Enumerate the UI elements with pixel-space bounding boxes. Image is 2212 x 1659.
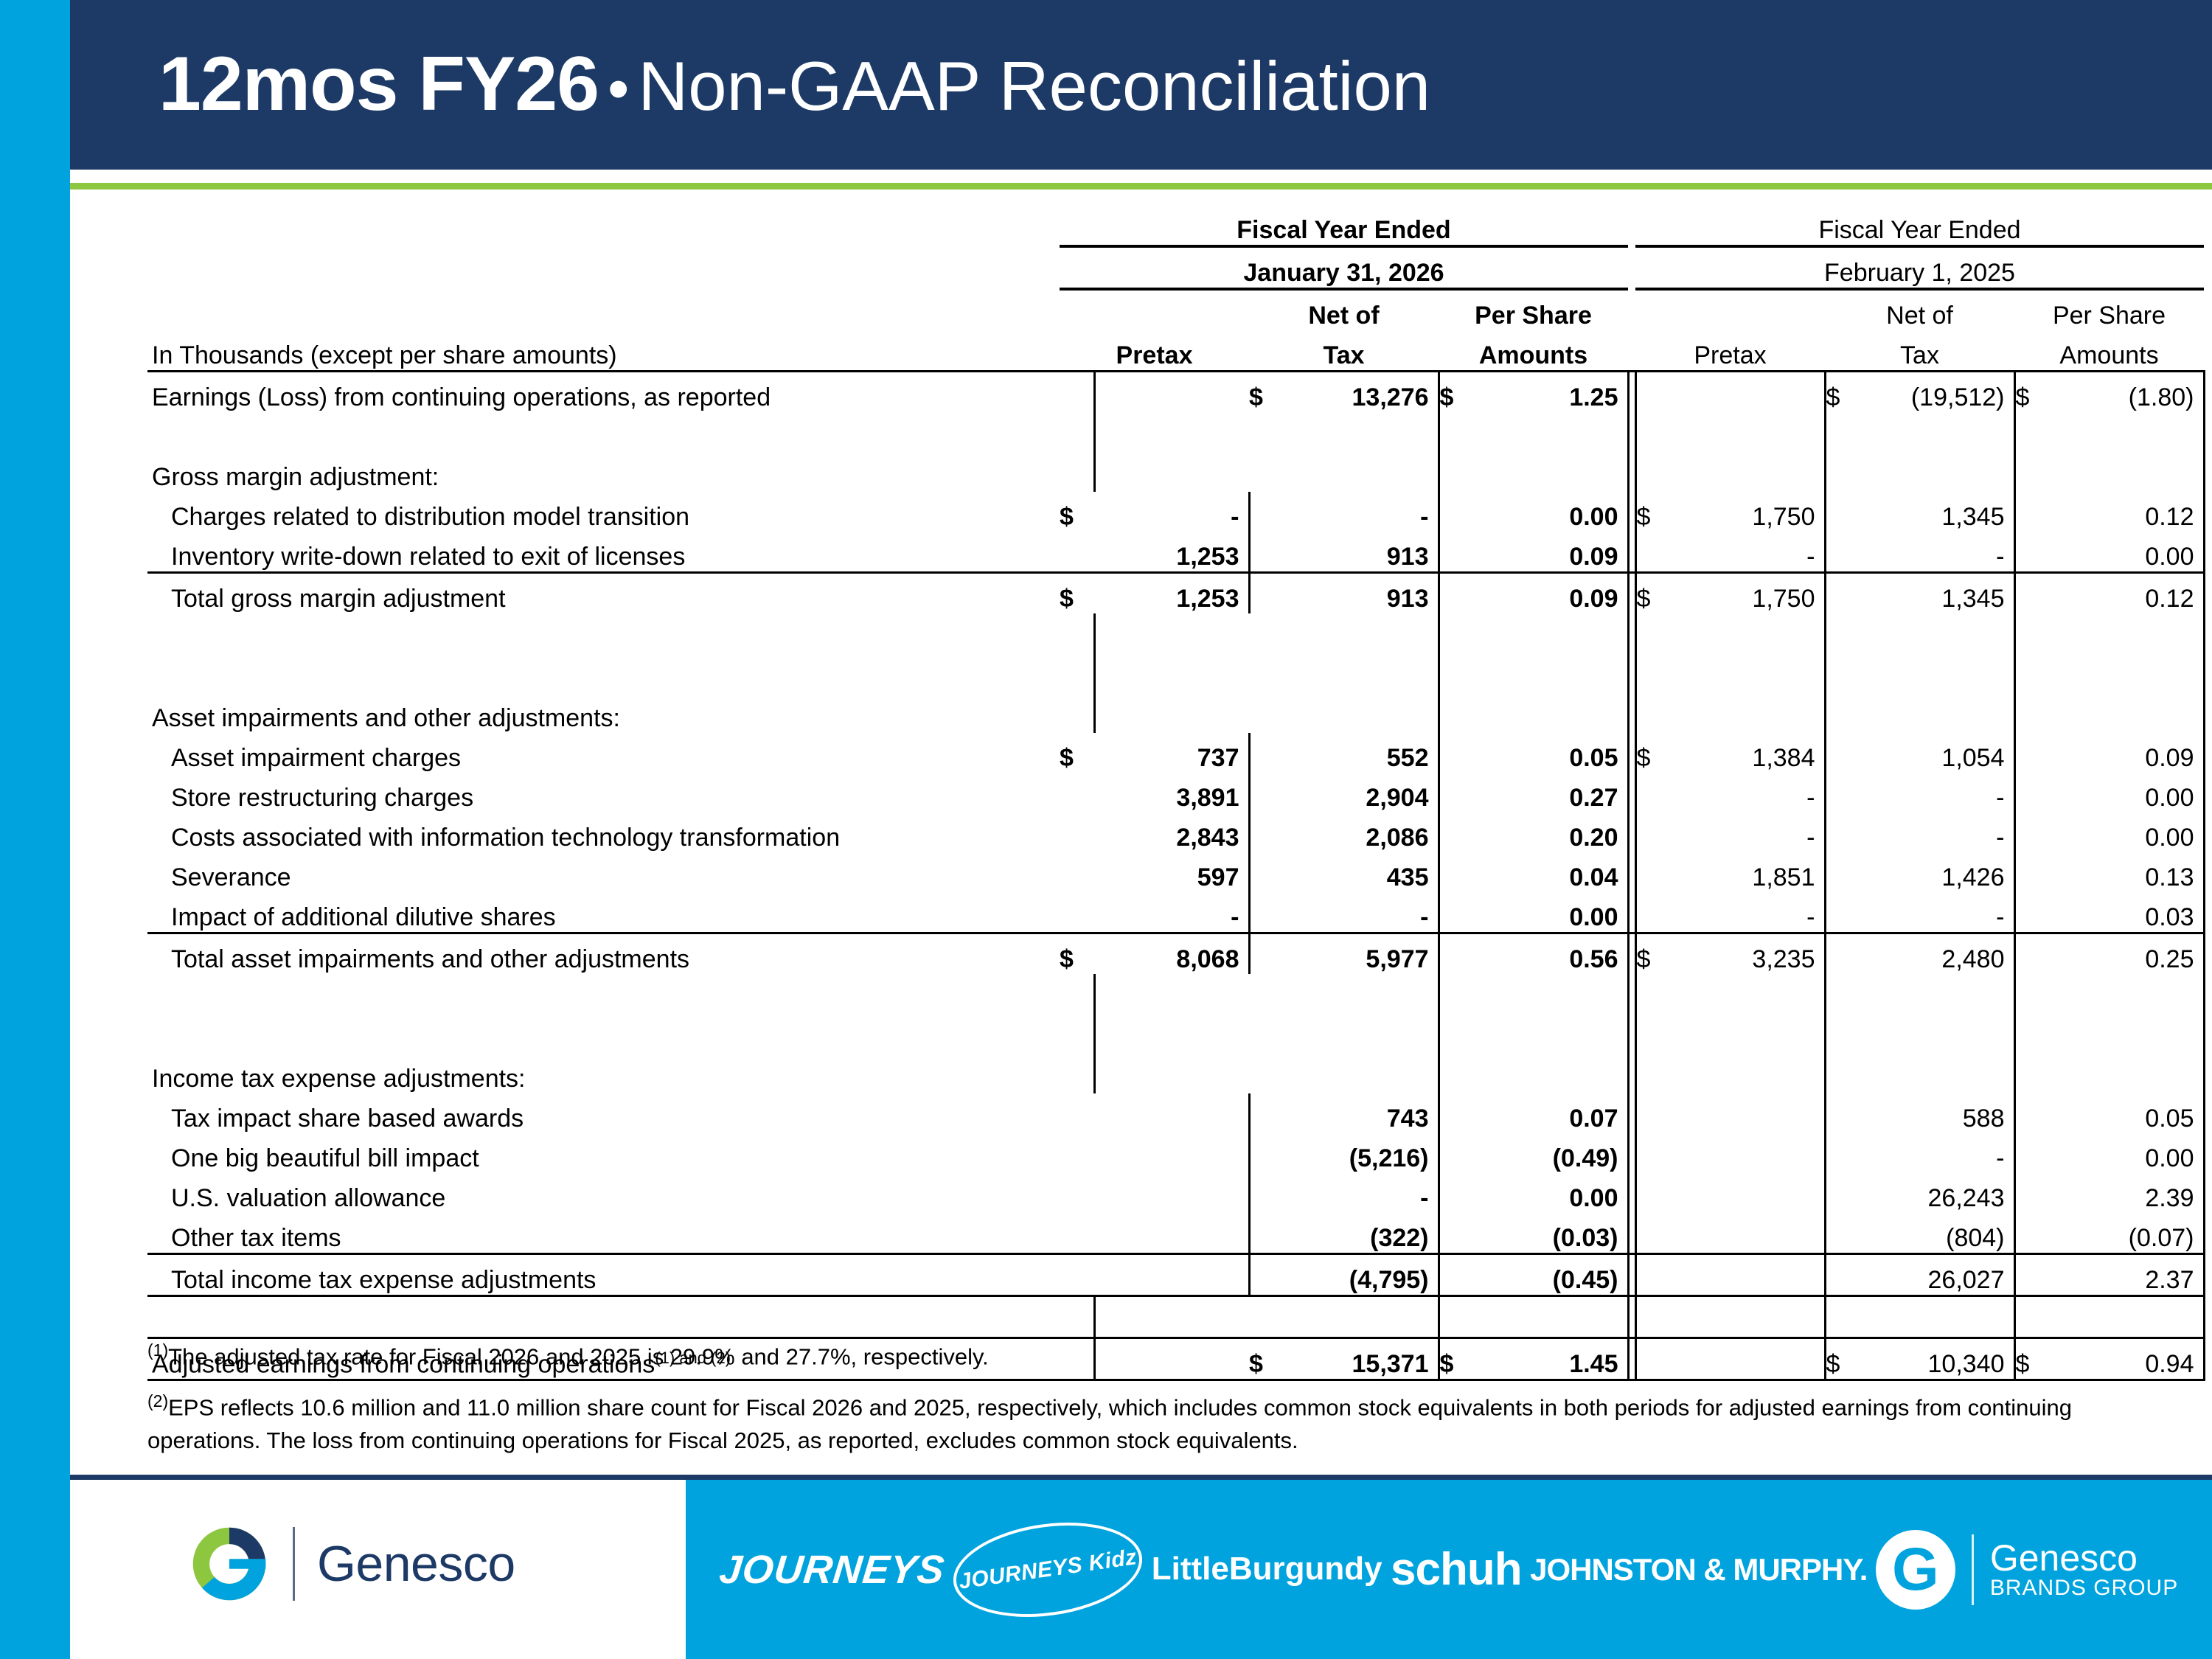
journeys-kidz-label: JOURNEYS Kidz	[957, 1545, 1138, 1595]
table-row-tx-other: Other tax items (322) (0.03) (804) (0.07…	[147, 1213, 2204, 1254]
table-row-reported: Earnings (Loss) from continuing operatio…	[147, 372, 2204, 413]
aiimp-fy25-net: 1,054	[1860, 733, 2015, 773]
gmtot-fy25-net: 1,345	[1860, 573, 2015, 614]
txshare-fy26-pretax	[1095, 1093, 1250, 1133]
footnote-1-marker: (1)	[147, 1340, 168, 1360]
table-row-tx-share: Tax impact share based awards 743 0.07 5…	[147, 1093, 2204, 1133]
txval-fy26-net: -	[1284, 1173, 1439, 1213]
table-row-ai-total: Total asset impairments and other adjust…	[147, 933, 2204, 975]
aiimp-fy26-net: 552	[1284, 733, 1439, 773]
genesco-brands-g-icon: G	[1876, 1530, 1955, 1610]
aidil-fy26-net: -	[1284, 892, 1439, 933]
row-label-ai-severance: Severance	[147, 852, 1060, 892]
row-label-ai-it: Costs associated with information techno…	[147, 813, 1060, 852]
table-row-ai-store: Store restructuring charges 3,891 2,904 …	[147, 773, 2204, 813]
gminv-fy25-pretax: -	[1671, 532, 1826, 573]
table-row-tx-total: Total income tax expense adjustments (4,…	[147, 1254, 2204, 1296]
fy26-header-per-share: Per Share	[1439, 289, 1628, 330]
gmtot-fy26-pretax-cur: $	[1060, 573, 1095, 614]
gmtot-fy26-net: 913	[1284, 573, 1439, 614]
txoth-fy26-net: (322)	[1284, 1213, 1439, 1254]
aidil-fy26-eps: 0.00	[1474, 892, 1629, 933]
table-row-ai-severance: Severance 597 435 0.04 1,851 1,426 0.13	[147, 852, 2204, 892]
txtot-fy26-net: (4,795)	[1284, 1254, 1439, 1296]
aiit-fy26-net: 2,086	[1284, 813, 1439, 852]
aiit-fy26-eps: 0.20	[1474, 813, 1629, 852]
gmtot-fy26-pretax: 1,253	[1095, 573, 1250, 614]
aiimp-fy25-pretax: 1,384	[1671, 733, 1826, 773]
fy26-header-amounts: Amounts	[1439, 330, 1628, 372]
txshare-fy25-pretax	[1671, 1093, 1826, 1133]
little-burgundy-logo: Little Burgundy	[1152, 1552, 1382, 1586]
non-gaap-reconciliation-table: Fiscal Year Ended Fiscal Year Ended Janu…	[147, 205, 2205, 1381]
aiimp-fy26-pretax-cur: $	[1060, 733, 1095, 773]
gminv-fy26-eps: 0.09	[1474, 532, 1629, 573]
table-row-ai-dilutive: Impact of additional dilutive shares - -…	[147, 892, 2204, 933]
txval-fy26-eps: 0.00	[1474, 1173, 1629, 1213]
genesco-brands-line1: Genesco	[1990, 1537, 2138, 1579]
aisev-fy26-eps: 0.04	[1474, 852, 1629, 892]
table-row-gm-header: Gross margin adjustment:	[147, 452, 2204, 492]
txtot-fy25-eps: 2.37	[2050, 1254, 2205, 1296]
gmdist-fy25-eps: 0.12	[2050, 492, 2205, 532]
little-burgundy-line2: Burgundy	[1229, 1552, 1382, 1586]
fy26-period-line1: Fiscal Year Ended	[1060, 205, 1628, 246]
aistore-fy26-eps: 0.27	[1474, 773, 1629, 813]
title-subject: Non-GAAP Reconciliation	[638, 47, 1430, 125]
section-header-income-tax: Income tax expense adjustments:	[147, 1054, 1060, 1093]
page-title: 12mos FY26•Non-GAAP Reconciliation	[159, 24, 2076, 149]
little-burgundy-line1: Little	[1152, 1552, 1229, 1586]
row-label-tx-obbb: One big beautiful bill impact	[147, 1133, 1060, 1173]
aitot-fy25-pretax: 3,235	[1671, 933, 1826, 975]
txtot-fy25-pretax	[1671, 1254, 1826, 1296]
row-label-gm-total: Total gross margin adjustment	[147, 573, 1060, 614]
txoth-fy25-net: (804)	[1860, 1213, 2015, 1254]
gmdist-fy25-pretax: 1,750	[1671, 492, 1826, 532]
fy25-period-line1: Fiscal Year Ended	[1635, 205, 2204, 246]
reported-fy26-pretax-cur	[1060, 372, 1095, 413]
gminv-fy25-eps: 0.00	[2050, 532, 2205, 573]
row-label-gm-distribution: Charges related to distribution model tr…	[147, 492, 1060, 532]
table-row-spacer	[147, 412, 2204, 452]
footnote-1-text: The adjusted tax rate for Fiscal 2026 an…	[168, 1343, 989, 1369]
txobbb-fy26-eps: (0.49)	[1474, 1133, 1629, 1173]
schuh-logo: schuh	[1391, 1543, 1522, 1596]
aidil-fy26-pretax: -	[1095, 892, 1250, 933]
aitot-fy26-eps: 0.56	[1474, 933, 1629, 975]
txval-fy25-pretax	[1671, 1173, 1826, 1213]
table-row-spacer	[147, 653, 2204, 693]
table-row-spacer	[147, 1296, 2204, 1338]
reported-fy26-net-cur: $	[1249, 372, 1284, 413]
txobbb-fy26-pretax	[1095, 1133, 1250, 1173]
txobbb-fy26-net: (5,216)	[1284, 1133, 1439, 1173]
genesco-wordmark: Genesco	[317, 1535, 515, 1593]
fy25-period-line2: February 1, 2025	[1635, 246, 2204, 289]
reported-fy26-pretax	[1095, 372, 1250, 413]
aistore-fy25-pretax: -	[1671, 773, 1826, 813]
aiit-fy25-pretax: -	[1671, 813, 1826, 852]
table-row-spacer	[147, 1014, 2204, 1054]
gminv-fy25-net: -	[1860, 532, 2015, 573]
txobbb-fy25-eps: 0.00	[2050, 1133, 2205, 1173]
aidil-fy25-eps: 0.03	[2050, 892, 2205, 933]
gminv-fy26-net: 913	[1284, 532, 1439, 573]
aidil-fy25-pretax: -	[1671, 892, 1826, 933]
aiit-fy25-eps: 0.00	[2050, 813, 2205, 852]
reported-fy25-eps-cur: $	[2014, 372, 2050, 413]
reported-fy25-eps: (1.80)	[2050, 372, 2205, 413]
units-note: In Thousands (except per share amounts)	[147, 330, 1060, 372]
aitot-fy26-pretax: 8,068	[1095, 933, 1250, 975]
txval-fy26-pretax	[1095, 1173, 1250, 1213]
fy25-header-net-of: Net of	[1825, 289, 2014, 330]
aitot-fy25-pretax-cur: $	[1635, 933, 1671, 975]
txshare-fy25-net: 588	[1860, 1093, 2015, 1133]
gmtot-fy25-pretax-cur: $	[1635, 573, 1671, 614]
txtot-fy26-eps: (0.45)	[1474, 1254, 1629, 1296]
table-row-tx-obbb: One big beautiful bill impact (5,216) (0…	[147, 1133, 2204, 1173]
gmdist-fy26-pretax: -	[1095, 492, 1250, 532]
gmtot-fy25-eps: 0.12	[2050, 573, 2205, 614]
row-label-tx-other: Other tax items	[147, 1213, 1060, 1254]
section-header-gross-margin: Gross margin adjustment:	[147, 452, 1060, 492]
reported-fy25-pretax	[1671, 372, 1826, 413]
title-period: 12mos FY26	[159, 41, 599, 127]
fy26-header-net-of: Net of	[1249, 289, 1439, 330]
row-label-tx-total: Total income tax expense adjustments	[147, 1254, 1060, 1296]
aisev-fy26-net: 435	[1284, 852, 1439, 892]
table-row-spacer	[147, 974, 2204, 1014]
aisev-fy25-eps: 0.13	[2050, 852, 2205, 892]
gmdist-fy26-net: -	[1284, 492, 1439, 532]
row-label-ai-total: Total asset impairments and other adjust…	[147, 933, 1060, 975]
johnston-murphy-logo: JOHNSTON & MURPHY.	[1530, 1552, 1867, 1587]
reported-fy25-net: (19,512)	[1860, 372, 2015, 413]
gmdist-fy26-pretax-cur: $	[1060, 492, 1095, 532]
row-label-reported: Earnings (Loss) from continuing operatio…	[147, 372, 1060, 413]
genesco-g-icon	[188, 1523, 271, 1605]
footnotes: (1)The adjusted tax rate for Fiscal 2026…	[147, 1338, 2138, 1473]
txoth-fy25-eps: (0.07)	[2050, 1213, 2205, 1254]
section-header-asset-impairments: Asset impairments and other adjustments:	[147, 693, 1060, 733]
aistore-fy26-net: 2,904	[1284, 773, 1439, 813]
table-row-period-date: January 31, 2026 February 1, 2025	[147, 246, 2204, 289]
fy25-header-per-share: Per Share	[2014, 289, 2204, 330]
genesco-corporate-logo: Genesco	[188, 1523, 515, 1605]
aidil-fy25-net: -	[1860, 892, 2015, 933]
gmtot-fy25-pretax: 1,750	[1671, 573, 1826, 614]
aitot-fy26-pretax-cur: $	[1060, 933, 1095, 975]
aisev-fy25-pretax: 1,851	[1671, 852, 1826, 892]
gmdist-fy25-net: 1,345	[1860, 492, 2015, 532]
txval-fy25-eps: 2.39	[2050, 1173, 2205, 1213]
aiit-fy26-pretax: 2,843	[1095, 813, 1250, 852]
aiimp-fy25-pretax-cur: $	[1635, 733, 1671, 773]
row-label-ai-store: Store restructuring charges	[147, 773, 1060, 813]
table-row-colhdr-2: In Thousands (except per share amounts) …	[147, 330, 2204, 372]
gminv-fy26-pretax: 1,253	[1095, 532, 1250, 573]
row-label-gm-inventory: Inventory write-down related to exit of …	[147, 532, 1060, 573]
table-row-ai-header: Asset impairments and other adjustments:	[147, 693, 2204, 733]
header-accent-rule	[70, 183, 2212, 189]
aitot-fy25-net: 2,480	[1860, 933, 2015, 975]
aistore-fy25-net: -	[1860, 773, 2015, 813]
reported-fy26-net: 13,276	[1284, 372, 1439, 413]
table-row-period-group: Fiscal Year Ended Fiscal Year Ended	[147, 205, 2204, 246]
fy26-period-line2: January 31, 2026	[1060, 246, 1628, 289]
aitot-fy25-eps: 0.25	[2050, 933, 2205, 975]
logo-divider	[293, 1527, 295, 1601]
txoth-fy25-pretax	[1671, 1213, 1826, 1254]
fy26-header-tax: Tax	[1249, 330, 1439, 372]
txtot-fy25-net: 26,027	[1860, 1254, 2015, 1296]
txshare-fy26-net: 743	[1284, 1093, 1439, 1133]
gmdist-fy26-eps: 0.00	[1474, 492, 1629, 532]
genesco-brands-group-logo: G Genesco BRANDS GROUP	[1876, 1530, 2178, 1610]
footnote-2-marker: (2)	[147, 1391, 168, 1411]
aistore-fy26-pretax: 3,891	[1095, 773, 1250, 813]
aiimp-fy26-eps: 0.05	[1474, 733, 1629, 773]
aiimp-fy25-eps: 0.09	[2050, 733, 2205, 773]
row-label-ai-dilutive: Impact of additional dilutive shares	[147, 892, 1060, 933]
table-row-gm-inventory: Inventory write-down related to exit of …	[147, 532, 2204, 573]
table-row-tx-valuation: U.S. valuation allowance - 0.00 26,243 2…	[147, 1173, 2204, 1213]
footer-divider-rule	[70, 1475, 2212, 1480]
reported-fy25-net-cur: $	[1825, 372, 1860, 413]
table-row-spacer	[147, 613, 2204, 653]
genesco-brands-divider	[1972, 1534, 1974, 1605]
footnote-1: (1)The adjusted tax rate for Fiscal 2026…	[147, 1338, 2138, 1373]
fy25-header-amounts: Amounts	[2014, 330, 2204, 372]
txshare-fy26-eps: 0.07	[1474, 1093, 1629, 1133]
txoth-fy26-pretax	[1095, 1213, 1250, 1254]
txshare-fy25-eps: 0.05	[2050, 1093, 2205, 1133]
genesco-brands-wordmark: Genesco BRANDS GROUP	[1990, 1540, 2178, 1600]
aitot-fy26-net: 5,977	[1284, 933, 1439, 975]
gmtot-fy26-eps: 0.09	[1474, 573, 1629, 614]
aiit-fy25-net: -	[1860, 813, 2015, 852]
table-row-gm-distribution: Charges related to distribution model tr…	[147, 492, 2204, 532]
fy25-header-tax: Tax	[1825, 330, 2014, 372]
journeys-logo: JOURNEYS	[717, 1547, 947, 1593]
title-separator: •	[599, 54, 638, 123]
txobbb-fy25-pretax	[1671, 1133, 1826, 1173]
table-row-gm-total: Total gross margin adjustment $ 1,253 91…	[147, 573, 2204, 614]
txoth-fy26-eps: (0.03)	[1474, 1213, 1629, 1254]
table-row-tax-header: Income tax expense adjustments:	[147, 1054, 2204, 1093]
fy25-header-pretax: Pretax	[1635, 330, 1825, 372]
txtot-fy26-pretax	[1095, 1254, 1250, 1296]
reported-fy26-eps: 1.25	[1474, 372, 1629, 413]
row-label-tx-valuation: U.S. valuation allowance	[147, 1173, 1060, 1213]
journeys-kidz-logo: JOURNEYS Kidz	[947, 1511, 1149, 1628]
aisev-fy25-net: 1,426	[1860, 852, 2015, 892]
reported-fy26-eps-cur: $	[1439, 372, 1474, 413]
table-row-ai-impairment: Asset impairment charges $ 737 552 0.05 …	[147, 733, 2204, 773]
genesco-brands-line2: BRANDS GROUP	[1990, 1576, 2178, 1600]
txval-fy25-net: 26,243	[1860, 1173, 2015, 1213]
txobbb-fy25-net: -	[1860, 1133, 2015, 1173]
aisev-fy26-pretax: 597	[1095, 852, 1250, 892]
fy26-header-pretax: Pretax	[1060, 330, 1249, 372]
row-label-ai-impairment: Asset impairment charges	[147, 733, 1060, 773]
table-row-ai-it: Costs associated with information techno…	[147, 813, 2204, 852]
footnote-2: (2)EPS reflects 10.6 million and 11.0 mi…	[147, 1389, 2138, 1456]
brand-logo-row: JOURNEYS JOURNEYS Kidz Little Burgundy s…	[686, 1480, 2212, 1659]
table-row-colhdr-1: Net of Per Share Net of Per Share	[147, 289, 2204, 330]
row-label-tx-share: Tax impact share based awards	[147, 1093, 1060, 1133]
reported-fy25-pretax-cur	[1635, 372, 1671, 413]
footnote-2-text: EPS reflects 10.6 million and 11.0 milli…	[147, 1395, 2072, 1453]
reconciliation-sheet: Fiscal Year Ended Fiscal Year Ended Janu…	[70, 198, 2212, 1451]
left-accent-bar	[0, 0, 70, 1659]
aistore-fy25-eps: 0.00	[2050, 773, 2205, 813]
aiimp-fy26-pretax: 737	[1095, 733, 1250, 773]
gmdist-fy25-pretax-cur: $	[1635, 492, 1671, 532]
